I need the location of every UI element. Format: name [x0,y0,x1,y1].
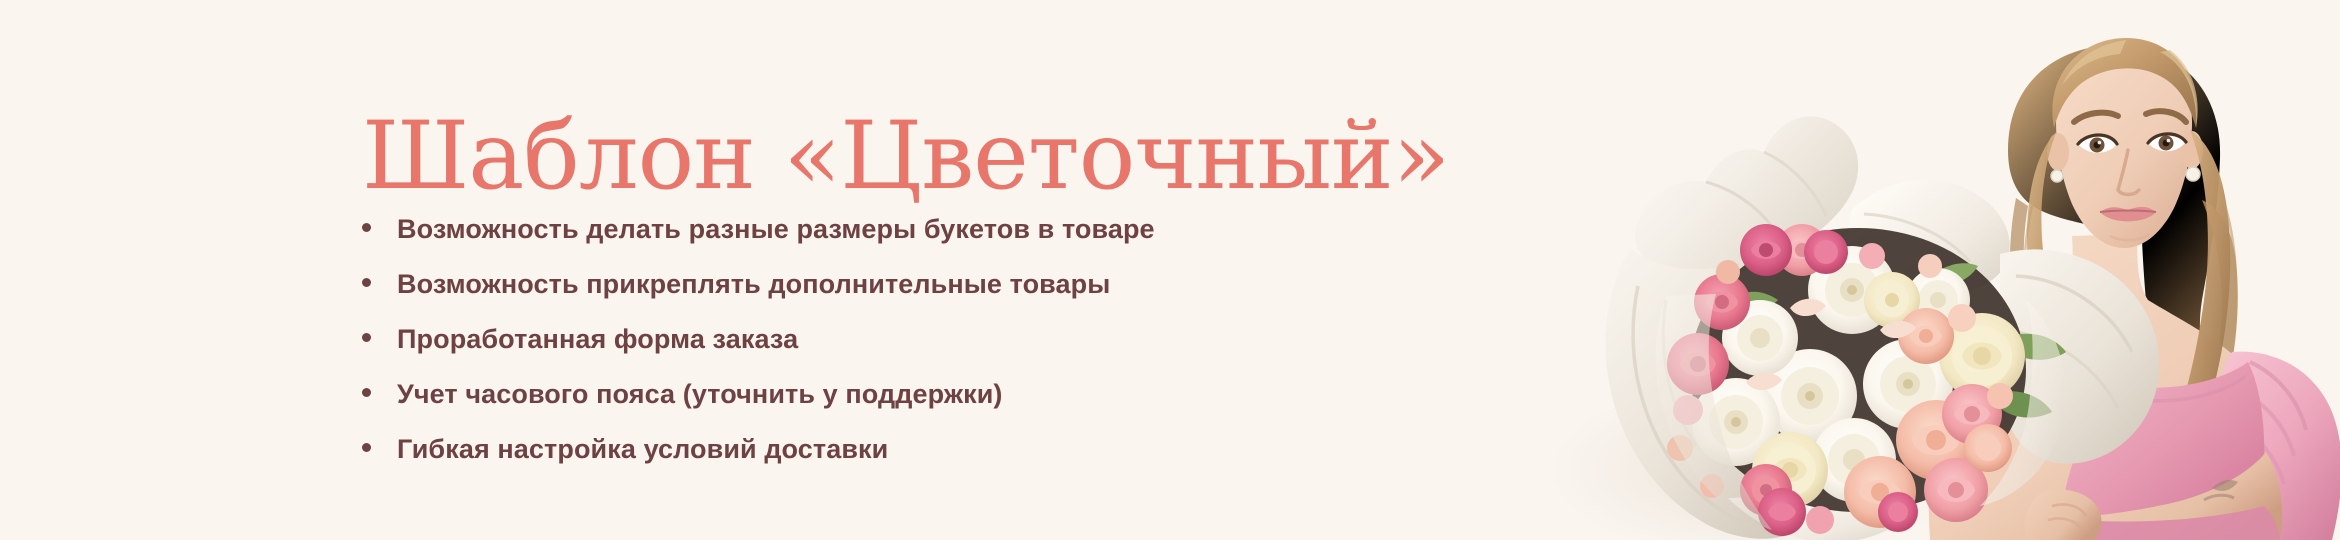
list-item: Возможность делать разные размеры букето… [362,212,1155,267]
list-item: Возможность прикреплять дополнительные т… [362,267,1155,322]
list-item: Учет часового пояса (уточнить у поддержк… [362,377,1155,432]
flower-template-banner: Шаблон «Цветочный» Возможность делать ра… [0,0,2340,540]
feature-label: Проработанная форма заказа [397,322,798,356]
feature-label: Учет часового пояса (уточнить у поддержк… [397,377,1003,411]
bullet-icon [362,388,371,397]
page-title: Шаблон «Цветочный» [362,103,1449,211]
bouquet-illustration [1460,0,2340,540]
bullet-icon [362,333,371,342]
text-content-column: Шаблон «Цветочный» Возможность делать ра… [0,0,1480,540]
earring-icon [2186,167,2200,181]
bullet-icon [362,443,371,452]
bullet-icon [362,223,371,232]
feature-label: Возможность прикреплять дополнительные т… [397,267,1110,301]
feature-label: Гибкая настройка условий доставки [397,432,888,466]
feature-label: Возможность делать разные размеры букето… [397,212,1155,246]
list-item: Проработанная форма заказа [362,322,1155,377]
feature-list: Возможность делать разные размеры букето… [362,212,1155,487]
bullet-icon [362,278,371,287]
list-item: Гибкая настройка условий доставки [362,432,1155,487]
model-with-bouquet-photo [1460,0,2340,540]
